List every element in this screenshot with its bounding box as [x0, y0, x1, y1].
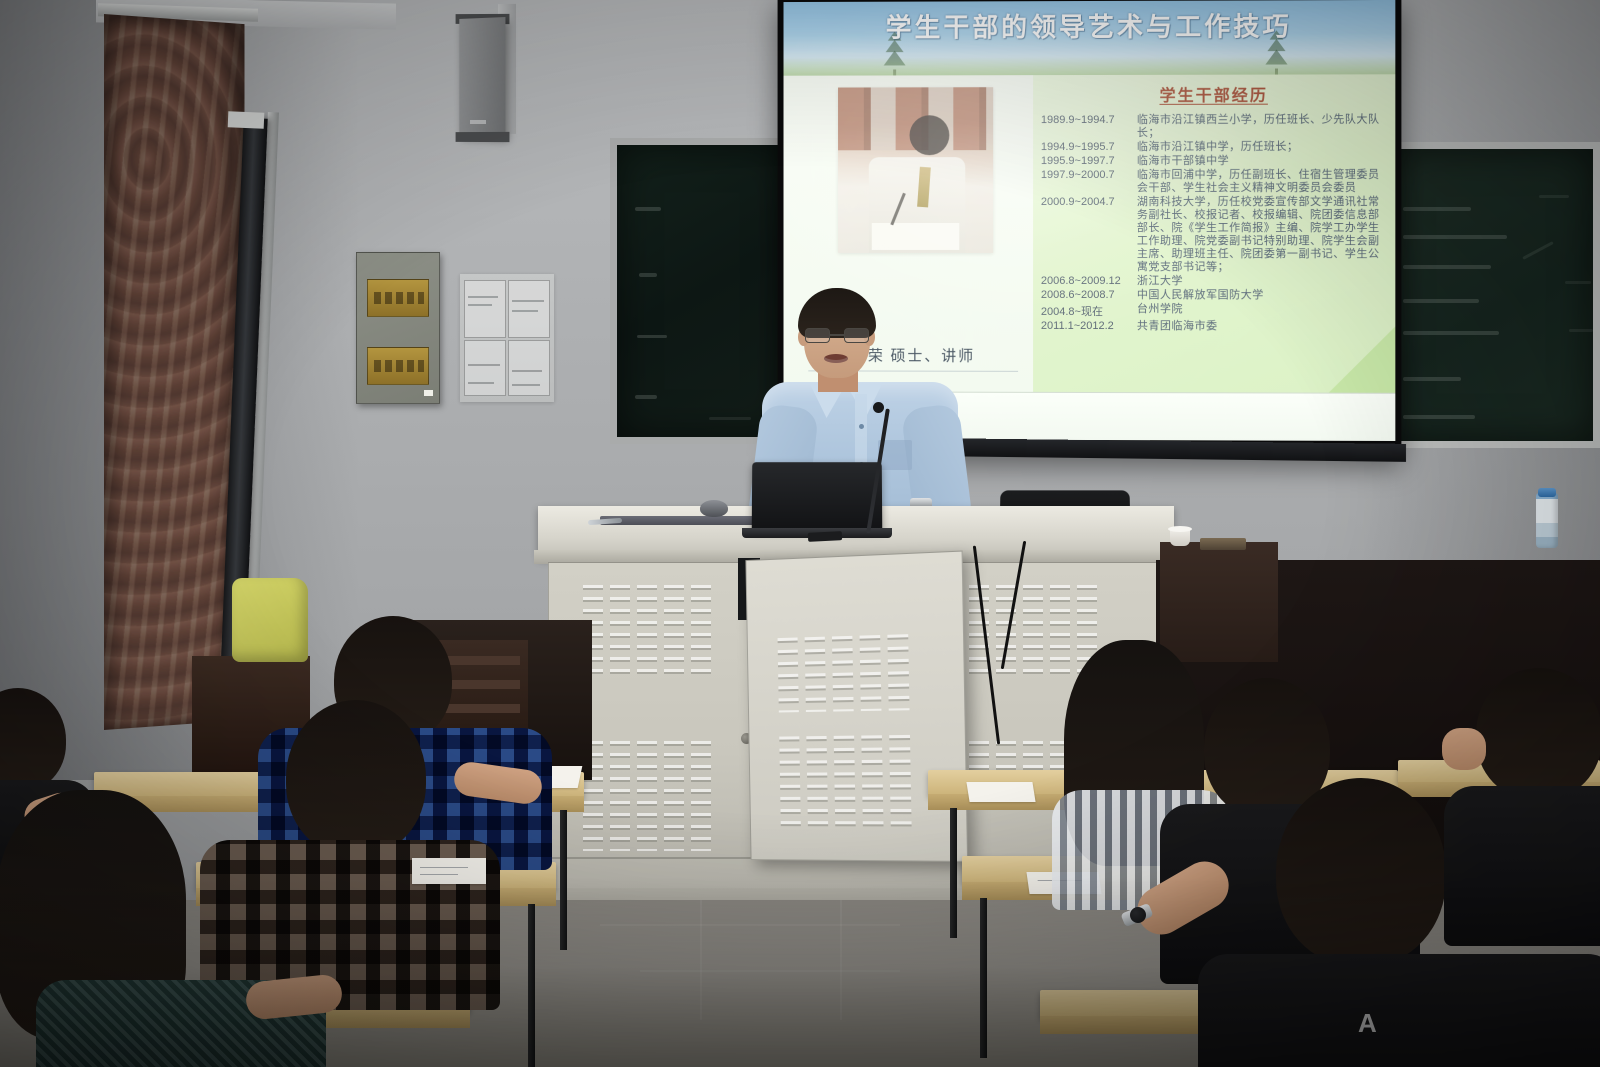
- notice-line: [512, 384, 540, 386]
- paper-sheet: [412, 858, 486, 884]
- paper-sheet: [966, 782, 1035, 802]
- wall-notices: [460, 274, 554, 402]
- cv-text: 临海市干部镇中学: [1137, 155, 1385, 168]
- cv-text: 共青团临海市委: [1137, 320, 1385, 333]
- cv-text: 湖南科技大学，历任校党委宣传部文学通讯社常务副社长、校报记者、校报编辑、院团委信…: [1137, 196, 1385, 274]
- cv-row: 1997.9~2000.7临海市回浦中学，历任副班长、住宿生管理委员会干部、学生…: [1041, 169, 1385, 195]
- right-chalkboard: [1382, 142, 1600, 448]
- cv-text: 临海市沿江镇中学，历任班长；: [1137, 141, 1385, 154]
- notice-sheet: [508, 340, 550, 396]
- cv-date: 1995.9~1997.7: [1041, 155, 1137, 167]
- cv-text: 中国人民解放军国防大学: [1137, 289, 1385, 302]
- water-bottle[interactable]: [1536, 493, 1558, 548]
- vent-grille: [778, 634, 923, 713]
- notice-sheet: [464, 340, 506, 396]
- notice-line: [468, 304, 492, 306]
- plaque-lower: [367, 347, 429, 385]
- mobile-phone[interactable]: [808, 531, 842, 542]
- desk-box[interactable]: [1200, 538, 1246, 550]
- plaque-lower-text: [374, 360, 424, 372]
- cv-row: 2008.6~2008.7中国人民解放军国防大学: [1041, 289, 1385, 302]
- cv-date: 2004.8~现在: [1041, 303, 1137, 319]
- cv-text: 台州学院: [1137, 303, 1385, 316]
- cv-row: 1989.9~1994.7临海市沿江镇西兰小学，历任班长、少先队大队长；: [1041, 113, 1385, 140]
- open-cabinet-door[interactable]: [745, 551, 968, 862]
- cv-row: 2004.8~现在台州学院: [1041, 303, 1385, 319]
- cv-list: 1989.9~1994.7临海市沿江镇西兰小学，历任班长、少先队大队长；1994…: [1033, 113, 1395, 333]
- vent-grille: [583, 741, 723, 851]
- cv-row: 2011.1~2012.2共青团临海市委: [1041, 320, 1385, 334]
- speaker-bottom-cap: [456, 132, 510, 142]
- vent-grille: [583, 585, 723, 677]
- student-far-right: [1432, 668, 1600, 918]
- notice-line: [468, 296, 498, 298]
- watch-face-icon: [1130, 907, 1146, 923]
- lecturer-mouth: [824, 354, 848, 363]
- hoodie-print: A: [1358, 1008, 1380, 1039]
- cv-date: 2000.9~2004.7: [1041, 196, 1137, 208]
- cv-date: 1989.9~1994.7: [1041, 114, 1137, 126]
- keyboard[interactable]: [600, 516, 760, 525]
- laptop[interactable]: [752, 462, 883, 530]
- cv-row: 1995.9~1997.7临海市干部镇中学: [1041, 155, 1385, 168]
- eyeglasses-icon: [805, 328, 869, 343]
- notice-line: [512, 300, 544, 302]
- cv-date: 1997.9~2000.7: [1041, 169, 1137, 181]
- plaque-upper-text: [374, 292, 424, 304]
- cv-row: 2000.9~2004.7湖南科技大学，历任校党委宣传部文学通讯社常务副社长、校…: [1041, 196, 1385, 274]
- panel-indicator-icon: [424, 390, 433, 396]
- notice-line: [468, 382, 494, 384]
- microphone-head-icon: [873, 402, 884, 413]
- cv-row: 2006.8~2009.12浙江大学: [1041, 275, 1385, 288]
- vent-grille: [779, 735, 924, 828]
- classroom-scene: 学生干部的领导艺术与工作技巧 冯荣 硕士、讲师 学生干部经历 1: [0, 0, 1600, 1067]
- cv-date: 1994.9~1995.7: [1041, 141, 1137, 153]
- bottle-cap-icon: [1538, 488, 1556, 497]
- cv-text: 临海市回浦中学，历任副班长、住宿生管理委员会干部、学生社会主义精神文明委员会委员: [1137, 169, 1385, 195]
- notice-line: [468, 364, 500, 366]
- cv-row: 1994.9~1995.7临海市沿江镇中学，历任班长；: [1041, 141, 1385, 154]
- wall-speaker-icon: [459, 17, 505, 137]
- cv-date: 2008.6~2008.7: [1041, 289, 1137, 301]
- speaker-brand-mark: [470, 120, 486, 124]
- wall-control-panel[interactable]: [356, 252, 440, 404]
- notice-sheet: [508, 280, 550, 338]
- cv-text: 浙江大学: [1137, 275, 1385, 288]
- cv-date: 2011.1~2012.2: [1041, 320, 1137, 332]
- notice-line: [512, 370, 542, 372]
- slide-section-title: 学生干部经历: [1033, 81, 1395, 106]
- cv-date: 2006.8~2009.12: [1041, 275, 1137, 287]
- banner-cap: [228, 111, 265, 128]
- paper-cup-rim: [1168, 526, 1192, 532]
- lecturer-photo: [838, 87, 993, 253]
- slide-right-column: 学生干部经历 1989.9~1994.7临海市沿江镇西兰小学，历任班长、少先队大…: [1033, 74, 1395, 392]
- computer-mouse[interactable]: [700, 500, 728, 517]
- notice-line: [512, 310, 538, 312]
- student-teal-knit: [0, 790, 320, 1067]
- cv-text: 临海市沿江镇西兰小学，历任班长、少先队大队长；: [1137, 113, 1385, 139]
- plaque-upper: [367, 279, 429, 317]
- notice-sheet: [464, 280, 506, 338]
- slide-title: 学生干部的领导艺术与工作技巧: [784, 6, 1396, 45]
